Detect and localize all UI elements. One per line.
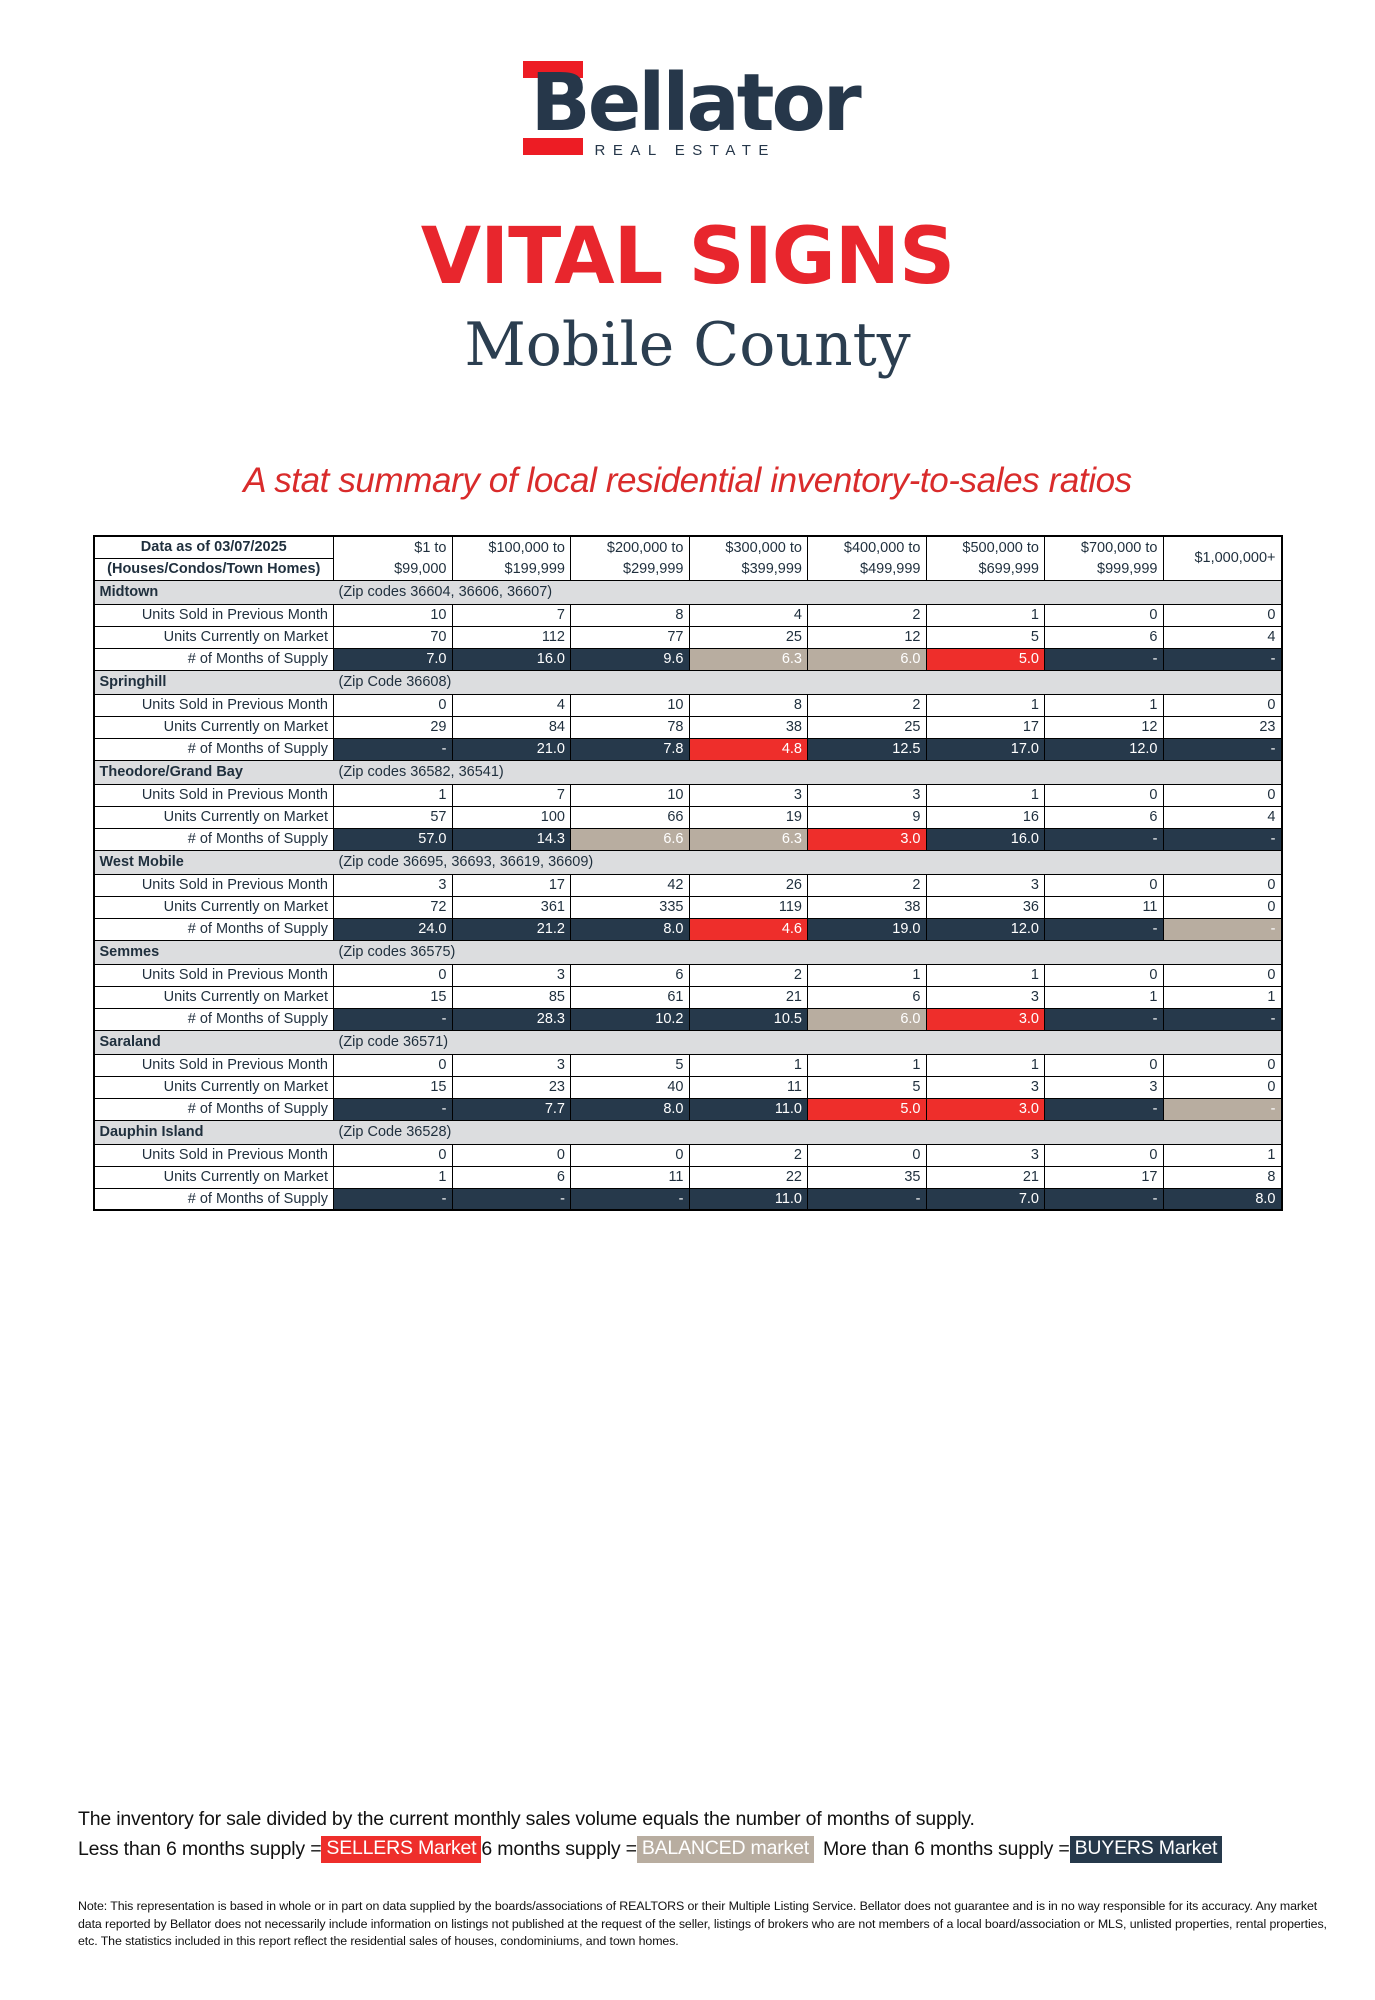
cell-theodore-grand-bay-sold-col6: 1 <box>926 784 1045 806</box>
table-row-springhill-on-market: Units Currently on Market298478382517122… <box>94 716 1282 738</box>
table-corner-subtitle: (Houses/Condos/Town Homes) <box>94 558 334 580</box>
cell-saraland-months-supply-col7: - <box>1045 1098 1164 1120</box>
cell-midtown-on-market-col1: 70 <box>334 626 453 648</box>
column-header-4-line2: $399,999 <box>689 558 808 580</box>
row-label-theodore-grand-bay-months-supply: # of Months of Supply <box>94 828 334 850</box>
cell-semmes-sold-col7: 0 <box>1045 964 1164 986</box>
legend-chips-row: Less than 6 months supply = SELLERS Mark… <box>78 1836 1335 1863</box>
row-label-west-mobile-on-market: Units Currently on Market <box>94 896 334 918</box>
row-label-saraland-on-market: Units Currently on Market <box>94 1076 334 1098</box>
area-header-theodore-grand-bay: Theodore/Grand Bay(Zip codes 36582, 3654… <box>94 760 1282 784</box>
vital-signs-table: Data as of 03/07/2025$1 to$100,000 to$20… <box>93 535 1283 1211</box>
cell-springhill-sold-col2: 4 <box>452 694 571 716</box>
row-label-semmes-months-supply: # of Months of Supply <box>94 1008 334 1030</box>
cell-semmes-sold-col5: 1 <box>808 964 927 986</box>
column-header-3: $200,000 to <box>571 536 690 558</box>
cell-theodore-grand-bay-months-supply-col7: - <box>1045 828 1164 850</box>
row-label-saraland-sold: Units Sold in Previous Month <box>94 1054 334 1076</box>
cell-dauphin-island-on-market-col1: 1 <box>334 1166 453 1188</box>
cell-semmes-on-market-col6: 3 <box>926 986 1045 1008</box>
cell-midtown-months-supply-col8: - <box>1163 648 1282 670</box>
cell-theodore-grand-bay-months-supply-col6: 16.0 <box>926 828 1045 850</box>
logo-wordmark: Bellator <box>531 60 859 146</box>
cell-semmes-months-supply-col6: 3.0 <box>926 1008 1045 1030</box>
cell-theodore-grand-bay-sold-col5: 3 <box>808 784 927 806</box>
cell-saraland-on-market-col1: 15 <box>334 1076 453 1098</box>
cell-springhill-months-supply-col4: 4.8 <box>689 738 808 760</box>
row-label-midtown-sold: Units Sold in Previous Month <box>94 604 334 626</box>
cell-dauphin-island-on-market-col3: 11 <box>571 1166 690 1188</box>
cell-saraland-on-market-col7: 3 <box>1045 1076 1164 1098</box>
cell-saraland-months-supply-col2: 7.7 <box>452 1098 571 1120</box>
cell-west-mobile-on-market-col7: 11 <box>1045 896 1164 918</box>
cell-semmes-sold-col4: 2 <box>689 964 808 986</box>
cell-springhill-months-supply-col6: 17.0 <box>926 738 1045 760</box>
cell-saraland-on-market-col5: 5 <box>808 1076 927 1098</box>
area-name-midtown: Midtown <box>94 580 334 604</box>
area-zipcodes-semmes: (Zip codes 36575) <box>334 940 1282 964</box>
cell-saraland-months-supply-col3: 8.0 <box>571 1098 690 1120</box>
cell-dauphin-island-months-supply-col6: 7.0 <box>926 1188 1045 1210</box>
column-header-4: $300,000 to <box>689 536 808 558</box>
row-label-semmes-on-market: Units Currently on Market <box>94 986 334 1008</box>
cell-midtown-sold-col5: 2 <box>808 604 927 626</box>
cell-saraland-on-market-col2: 23 <box>452 1076 571 1098</box>
cell-saraland-sold-col7: 0 <box>1045 1054 1164 1076</box>
row-label-midtown-on-market: Units Currently on Market <box>94 626 334 648</box>
table-row-springhill-sold: Units Sold in Previous Month041082110 <box>94 694 1282 716</box>
cell-theodore-grand-bay-on-market-col6: 16 <box>926 806 1045 828</box>
cell-saraland-sold-col8: 0 <box>1163 1054 1282 1076</box>
cell-semmes-sold-col3: 6 <box>571 964 690 986</box>
row-label-springhill-sold: Units Sold in Previous Month <box>94 694 334 716</box>
cell-springhill-months-supply-col8: - <box>1163 738 1282 760</box>
row-label-springhill-months-supply: # of Months of Supply <box>94 738 334 760</box>
table-row-west-mobile-on-market: Units Currently on Market723613351193836… <box>94 896 1282 918</box>
cell-springhill-on-market-col1: 29 <box>334 716 453 738</box>
cell-dauphin-island-on-market-col6: 21 <box>926 1166 1045 1188</box>
cell-dauphin-island-sold-col7: 0 <box>1045 1144 1164 1166</box>
row-label-theodore-grand-bay-on-market: Units Currently on Market <box>94 806 334 828</box>
page-title: VITAL SIGNS <box>0 218 1375 296</box>
column-header-1: $1 to <box>334 536 453 558</box>
cell-saraland-on-market-col6: 3 <box>926 1076 1045 1098</box>
cell-theodore-grand-bay-months-supply-col3: 6.6 <box>571 828 690 850</box>
cell-springhill-months-supply-col3: 7.8 <box>571 738 690 760</box>
cell-semmes-on-market-col1: 15 <box>334 986 453 1008</box>
cell-midtown-months-supply-col1: 7.0 <box>334 648 453 670</box>
cell-theodore-grand-bay-sold-col7: 0 <box>1045 784 1164 806</box>
cell-saraland-on-market-col4: 11 <box>689 1076 808 1098</box>
cell-springhill-months-supply-col5: 12.5 <box>808 738 927 760</box>
cell-dauphin-island-months-supply-col5: - <box>808 1188 927 1210</box>
table-row-west-mobile-sold: Units Sold in Previous Month31742262300 <box>94 874 1282 896</box>
table-corner-title: Data as of 03/07/2025 <box>94 536 334 558</box>
area-header-semmes: Semmes(Zip codes 36575) <box>94 940 1282 964</box>
cell-midtown-on-market-col5: 12 <box>808 626 927 648</box>
cell-semmes-on-market-col8: 1 <box>1163 986 1282 1008</box>
cell-theodore-grand-bay-sold-col4: 3 <box>689 784 808 806</box>
cell-springhill-on-market-col3: 78 <box>571 716 690 738</box>
cell-midtown-months-supply-col7: - <box>1045 648 1164 670</box>
table-header-row-1: Data as of 03/07/2025$1 to$100,000 to$20… <box>94 536 1282 558</box>
cell-springhill-months-supply-col2: 21.0 <box>452 738 571 760</box>
cell-dauphin-island-sold-col2: 0 <box>452 1144 571 1166</box>
cell-saraland-sold-col4: 1 <box>689 1054 808 1076</box>
cell-theodore-grand-bay-sold-col2: 7 <box>452 784 571 806</box>
bellator-logo: Bellator REAL ESTATE <box>523 52 853 170</box>
cell-springhill-sold-col7: 1 <box>1045 694 1164 716</box>
cell-dauphin-island-on-market-col2: 6 <box>452 1166 571 1188</box>
cell-midtown-on-market-col7: 6 <box>1045 626 1164 648</box>
cell-midtown-sold-col7: 0 <box>1045 604 1164 626</box>
cell-west-mobile-months-supply-col1: 24.0 <box>334 918 453 940</box>
table-row-springhill-months-supply: # of Months of Supply-21.07.84.812.517.0… <box>94 738 1282 760</box>
cell-saraland-sold-col2: 3 <box>452 1054 571 1076</box>
cell-springhill-months-supply-col1: - <box>334 738 453 760</box>
row-label-west-mobile-months-supply: # of Months of Supply <box>94 918 334 940</box>
vital-signs-table-wrap: Data as of 03/07/2025$1 to$100,000 to$20… <box>93 535 1283 1211</box>
legend-less-than-label: Less than 6 months supply = <box>78 1838 321 1861</box>
column-header-1-line2: $99,000 <box>334 558 453 580</box>
cell-theodore-grand-bay-on-market-col8: 4 <box>1163 806 1282 828</box>
cell-dauphin-island-months-supply-col8: 8.0 <box>1163 1188 1282 1210</box>
cell-semmes-on-market-col4: 21 <box>689 986 808 1008</box>
cell-midtown-on-market-col3: 77 <box>571 626 690 648</box>
cell-semmes-months-supply-col4: 10.5 <box>689 1008 808 1030</box>
cell-semmes-months-supply-col5: 6.0 <box>808 1008 927 1030</box>
cell-semmes-sold-col8: 0 <box>1163 964 1282 986</box>
logo-tagline: REAL ESTATE <box>595 142 776 159</box>
cell-semmes-months-supply-col8: - <box>1163 1008 1282 1030</box>
cell-west-mobile-on-market-col4: 119 <box>689 896 808 918</box>
cell-semmes-months-supply-col3: 10.2 <box>571 1008 690 1030</box>
cell-theodore-grand-bay-months-supply-col4: 6.3 <box>689 828 808 850</box>
cell-saraland-months-supply-col8: - <box>1163 1098 1282 1120</box>
cell-midtown-months-supply-col6: 5.0 <box>926 648 1045 670</box>
column-header-2: $100,000 to <box>452 536 571 558</box>
cell-west-mobile-sold-col8: 0 <box>1163 874 1282 896</box>
area-header-midtown: Midtown(Zip codes 36604, 36606, 36607) <box>94 580 1282 604</box>
cell-theodore-grand-bay-on-market-col4: 19 <box>689 806 808 828</box>
row-label-dauphin-island-sold: Units Sold in Previous Month <box>94 1144 334 1166</box>
cell-semmes-sold-col1: 0 <box>334 964 453 986</box>
cell-midtown-sold-col2: 7 <box>452 604 571 626</box>
cell-west-mobile-months-supply-col4: 4.6 <box>689 918 808 940</box>
cell-dauphin-island-sold-col5: 0 <box>808 1144 927 1166</box>
cell-dauphin-island-months-supply-col7: - <box>1045 1188 1164 1210</box>
cell-midtown-months-supply-col5: 6.0 <box>808 648 927 670</box>
legend-balanced-chip: BALANCED market <box>637 1836 814 1863</box>
table-row-dauphin-island-months-supply: # of Months of Supply---11.0-7.0-8.0 <box>94 1188 1282 1210</box>
cell-theodore-grand-bay-sold-col8: 0 <box>1163 784 1282 806</box>
cell-theodore-grand-bay-sold-col3: 10 <box>571 784 690 806</box>
table-row-dauphin-island-sold: Units Sold in Previous Month00020301 <box>94 1144 1282 1166</box>
cell-west-mobile-on-market-col8: 0 <box>1163 896 1282 918</box>
cell-semmes-months-supply-col2: 28.3 <box>452 1008 571 1030</box>
cell-saraland-months-supply-col6: 3.0 <box>926 1098 1045 1120</box>
cell-dauphin-island-sold-col1: 0 <box>334 1144 453 1166</box>
area-name-semmes: Semmes <box>94 940 334 964</box>
disclaimer-note: Note: This representation is based in wh… <box>78 1898 1330 1951</box>
cell-dauphin-island-on-market-col5: 35 <box>808 1166 927 1188</box>
cell-midtown-months-supply-col3: 9.6 <box>571 648 690 670</box>
area-zipcodes-midtown: (Zip codes 36604, 36606, 36607) <box>334 580 1282 604</box>
cell-west-mobile-sold-col6: 3 <box>926 874 1045 896</box>
column-header-5: $400,000 to <box>808 536 927 558</box>
cell-saraland-on-market-col3: 40 <box>571 1076 690 1098</box>
area-name-saraland: Saraland <box>94 1030 334 1054</box>
cell-dauphin-island-sold-col6: 3 <box>926 1144 1045 1166</box>
legend-more-than-label: More than 6 months supply = <box>823 1838 1070 1861</box>
cell-springhill-sold-col5: 2 <box>808 694 927 716</box>
cell-springhill-on-market-col6: 17 <box>926 716 1045 738</box>
cell-west-mobile-sold-col1: 3 <box>334 874 453 896</box>
row-label-theodore-grand-bay-sold: Units Sold in Previous Month <box>94 784 334 806</box>
cell-midtown-sold-col6: 1 <box>926 604 1045 626</box>
column-header-5-line2: $499,999 <box>808 558 927 580</box>
cell-theodore-grand-bay-on-market-col3: 66 <box>571 806 690 828</box>
cell-west-mobile-sold-col5: 2 <box>808 874 927 896</box>
table-row-semmes-on-market: Units Currently on Market158561216311 <box>94 986 1282 1008</box>
cell-dauphin-island-months-supply-col3: - <box>571 1188 690 1210</box>
column-header-6: $500,000 to <box>926 536 1045 558</box>
cell-saraland-sold-col1: 0 <box>334 1054 453 1076</box>
cell-springhill-on-market-col4: 38 <box>689 716 808 738</box>
cell-springhill-on-market-col2: 84 <box>452 716 571 738</box>
cell-theodore-grand-bay-sold-col1: 1 <box>334 784 453 806</box>
cell-midtown-months-supply-col2: 16.0 <box>452 648 571 670</box>
row-label-midtown-months-supply: # of Months of Supply <box>94 648 334 670</box>
column-header-2-line2: $199,999 <box>452 558 571 580</box>
cell-west-mobile-sold-col7: 0 <box>1045 874 1164 896</box>
cell-midtown-on-market-col2: 112 <box>452 626 571 648</box>
area-zipcodes-theodore-grand-bay: (Zip codes 36582, 36541) <box>334 760 1282 784</box>
cell-springhill-sold-col4: 8 <box>689 694 808 716</box>
cell-theodore-grand-bay-on-market-col1: 57 <box>334 806 453 828</box>
cell-theodore-grand-bay-months-supply-col8: - <box>1163 828 1282 850</box>
table-row-midtown-months-supply: # of Months of Supply7.016.09.66.36.05.0… <box>94 648 1282 670</box>
area-header-dauphin-island: Dauphin Island(Zip Code 36528) <box>94 1120 1282 1144</box>
cell-theodore-grand-bay-on-market-col5: 9 <box>808 806 927 828</box>
table-row-midtown-sold: Units Sold in Previous Month107842100 <box>94 604 1282 626</box>
cell-midtown-sold-col4: 4 <box>689 604 808 626</box>
table-row-semmes-sold: Units Sold in Previous Month03621100 <box>94 964 1282 986</box>
cell-saraland-sold-col3: 5 <box>571 1054 690 1076</box>
cell-semmes-on-market-col5: 6 <box>808 986 927 1008</box>
cell-midtown-sold-col3: 8 <box>571 604 690 626</box>
table-row-dauphin-island-on-market: Units Currently on Market1611223521178 <box>94 1166 1282 1188</box>
cell-springhill-on-market-col8: 23 <box>1163 716 1282 738</box>
cell-west-mobile-on-market-col2: 361 <box>452 896 571 918</box>
legend-definition: The inventory for sale divided by the cu… <box>78 1808 1335 1831</box>
cell-theodore-grand-bay-months-supply-col1: 57.0 <box>334 828 453 850</box>
row-label-dauphin-island-on-market: Units Currently on Market <box>94 1166 334 1188</box>
cell-west-mobile-on-market-col6: 36 <box>926 896 1045 918</box>
cell-midtown-sold-col1: 10 <box>334 604 453 626</box>
cell-springhill-sold-col8: 0 <box>1163 694 1282 716</box>
area-header-west-mobile: West Mobile(Zip code 36695, 36693, 36619… <box>94 850 1282 874</box>
cell-springhill-on-market-col5: 25 <box>808 716 927 738</box>
table-row-semmes-months-supply: # of Months of Supply-28.310.210.56.03.0… <box>94 1008 1282 1030</box>
cell-dauphin-island-on-market-col8: 8 <box>1163 1166 1282 1188</box>
cell-semmes-on-market-col7: 1 <box>1045 986 1164 1008</box>
cell-theodore-grand-bay-on-market-col2: 100 <box>452 806 571 828</box>
cell-theodore-grand-bay-months-supply-col5: 3.0 <box>808 828 927 850</box>
cell-semmes-on-market-col3: 61 <box>571 986 690 1008</box>
table-row-saraland-on-market: Units Currently on Market152340115330 <box>94 1076 1282 1098</box>
column-header-8: $1,000,000+ <box>1163 536 1282 580</box>
cell-west-mobile-on-market-col5: 38 <box>808 896 927 918</box>
cell-springhill-on-market-col7: 12 <box>1045 716 1164 738</box>
area-name-west-mobile: West Mobile <box>94 850 334 874</box>
cell-midtown-on-market-col4: 25 <box>689 626 808 648</box>
area-zipcodes-saraland: (Zip code 36571) <box>334 1030 1282 1054</box>
table-header-row-2: (Houses/Condos/Town Homes)$99,000$199,99… <box>94 558 1282 580</box>
cell-west-mobile-months-supply-col6: 12.0 <box>926 918 1045 940</box>
row-label-springhill-on-market: Units Currently on Market <box>94 716 334 738</box>
table-row-saraland-sold: Units Sold in Previous Month03511100 <box>94 1054 1282 1076</box>
cell-saraland-on-market-col8: 0 <box>1163 1076 1282 1098</box>
area-zipcodes-springhill: (Zip Code 36608) <box>334 670 1282 694</box>
cell-semmes-months-supply-col1: - <box>334 1008 453 1030</box>
legend-sellers-chip: SELLERS Market <box>321 1836 481 1863</box>
row-label-west-mobile-sold: Units Sold in Previous Month <box>94 874 334 896</box>
column-header-6-line2: $699,999 <box>926 558 1045 580</box>
cell-midtown-on-market-col6: 5 <box>926 626 1045 648</box>
cell-dauphin-island-sold-col8: 1 <box>1163 1144 1282 1166</box>
cell-dauphin-island-sold-col4: 2 <box>689 1144 808 1166</box>
cell-west-mobile-months-supply-col2: 21.2 <box>452 918 571 940</box>
cell-saraland-months-supply-col1: - <box>334 1098 453 1120</box>
cell-dauphin-island-months-supply-col1: - <box>334 1188 453 1210</box>
cell-west-mobile-months-supply-col7: - <box>1045 918 1164 940</box>
legend-equal-label: 6 months supply = <box>481 1838 636 1861</box>
cell-theodore-grand-bay-months-supply-col2: 14.3 <box>452 828 571 850</box>
table-row-theodore-grand-bay-on-market: Units Currently on Market57100661991664 <box>94 806 1282 828</box>
legend-footer: The inventory for sale divided by the cu… <box>78 1808 1335 1863</box>
cell-west-mobile-months-supply-col3: 8.0 <box>571 918 690 940</box>
cell-west-mobile-months-supply-col5: 19.0 <box>808 918 927 940</box>
table-row-theodore-grand-bay-sold: Units Sold in Previous Month171033100 <box>94 784 1282 806</box>
area-header-saraland: Saraland(Zip code 36571) <box>94 1030 1282 1054</box>
cell-springhill-sold-col3: 10 <box>571 694 690 716</box>
cell-midtown-on-market-col8: 4 <box>1163 626 1282 648</box>
area-zipcodes-west-mobile: (Zip code 36695, 36693, 36619, 36609) <box>334 850 1282 874</box>
row-label-semmes-sold: Units Sold in Previous Month <box>94 964 334 986</box>
row-label-saraland-months-supply: # of Months of Supply <box>94 1098 334 1120</box>
area-zipcodes-dauphin-island: (Zip Code 36528) <box>334 1120 1282 1144</box>
cell-west-mobile-on-market-col1: 72 <box>334 896 453 918</box>
cell-dauphin-island-months-supply-col2: - <box>452 1188 571 1210</box>
cell-saraland-months-supply-col5: 5.0 <box>808 1098 927 1120</box>
cell-semmes-sold-col2: 3 <box>452 964 571 986</box>
brand-logo: Bellator REAL ESTATE <box>0 0 1375 170</box>
cell-semmes-sold-col6: 1 <box>926 964 1045 986</box>
cell-dauphin-island-sold-col3: 0 <box>571 1144 690 1166</box>
table-row-west-mobile-months-supply: # of Months of Supply24.021.28.04.619.01… <box>94 918 1282 940</box>
area-name-theodore-grand-bay: Theodore/Grand Bay <box>94 760 334 784</box>
page-subtitle-county: Mobile County <box>0 314 1375 377</box>
cell-midtown-months-supply-col4: 6.3 <box>689 648 808 670</box>
page-tagline: A stat summary of local residential inve… <box>0 461 1375 501</box>
cell-saraland-months-supply-col4: 11.0 <box>689 1098 808 1120</box>
area-name-springhill: Springhill <box>94 670 334 694</box>
cell-west-mobile-sold-col3: 42 <box>571 874 690 896</box>
cell-semmes-months-supply-col7: - <box>1045 1008 1164 1030</box>
row-label-dauphin-island-months-supply: # of Months of Supply <box>94 1188 334 1210</box>
cell-west-mobile-sold-col4: 26 <box>689 874 808 896</box>
cell-dauphin-island-on-market-col7: 17 <box>1045 1166 1164 1188</box>
cell-dauphin-island-on-market-col4: 22 <box>689 1166 808 1188</box>
cell-midtown-sold-col8: 0 <box>1163 604 1282 626</box>
table-row-saraland-months-supply: # of Months of Supply-7.78.011.05.03.0-- <box>94 1098 1282 1120</box>
cell-west-mobile-on-market-col3: 335 <box>571 896 690 918</box>
table-row-midtown-on-market: Units Currently on Market70112772512564 <box>94 626 1282 648</box>
column-header-3-line2: $299,999 <box>571 558 690 580</box>
cell-saraland-sold-col5: 1 <box>808 1054 927 1076</box>
cell-dauphin-island-months-supply-col4: 11.0 <box>689 1188 808 1210</box>
table-row-theodore-grand-bay-months-supply: # of Months of Supply57.014.36.66.33.016… <box>94 828 1282 850</box>
column-header-7-line2: $999,999 <box>1045 558 1164 580</box>
cell-springhill-sold-col1: 0 <box>334 694 453 716</box>
cell-springhill-sold-col6: 1 <box>926 694 1045 716</box>
cell-springhill-months-supply-col7: 12.0 <box>1045 738 1164 760</box>
column-header-7: $700,000 to <box>1045 536 1164 558</box>
cell-west-mobile-sold-col2: 17 <box>452 874 571 896</box>
cell-west-mobile-months-supply-col8: - <box>1163 918 1282 940</box>
area-header-springhill: Springhill(Zip Code 36608) <box>94 670 1282 694</box>
cell-semmes-on-market-col2: 85 <box>452 986 571 1008</box>
cell-theodore-grand-bay-on-market-col7: 6 <box>1045 806 1164 828</box>
area-name-dauphin-island: Dauphin Island <box>94 1120 334 1144</box>
legend-buyers-chip: BUYERS Market <box>1070 1836 1223 1863</box>
cell-saraland-sold-col6: 1 <box>926 1054 1045 1076</box>
